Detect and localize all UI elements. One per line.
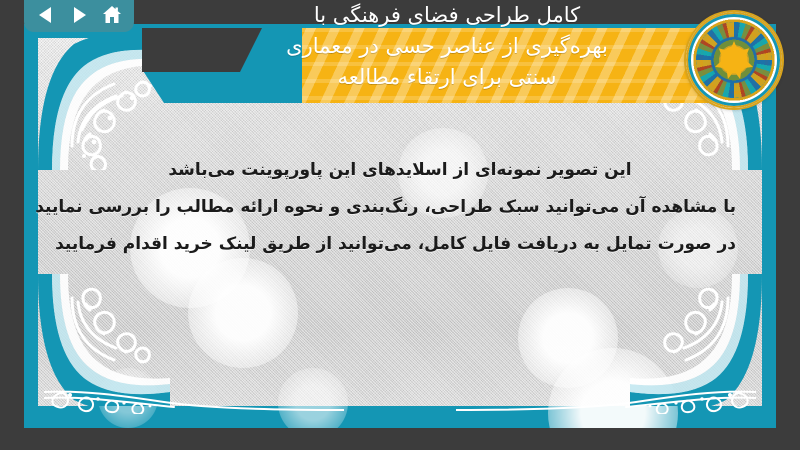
home-button[interactable] (101, 4, 123, 26)
body-line-1: این تصویر نمونه‌ای از اسلایدهای این پاور… (64, 152, 736, 189)
bokeh-circle (518, 288, 618, 388)
persian-medallion-icon (686, 12, 782, 108)
bottom-border-band (24, 394, 776, 428)
bottom-flourish-icon (456, 388, 756, 414)
banner-stripe-pattern (282, 28, 752, 103)
triangle-right-icon (70, 6, 88, 24)
medallion-outer-ring (686, 12, 782, 108)
body-line-3: در صورت تمایل به دریافت فایل کامل، می‌تو… (64, 226, 736, 263)
bottom-flourish-icon (44, 388, 344, 414)
slide-body-text: این تصویر نمونه‌ای از اسلایدهای این پاور… (64, 152, 736, 263)
bokeh-circle (188, 258, 298, 368)
slide-canvas: این تصویر نمونه‌ای از اسلایدهای این پاور… (0, 0, 800, 450)
back-button[interactable] (35, 4, 57, 26)
navigation-bar (24, 0, 134, 32)
title-banner (142, 28, 752, 103)
body-line-2: با مشاهده آن می‌توانید سبک طراحی، رنگ‌بن… (64, 189, 736, 226)
forward-button[interactable] (68, 4, 90, 26)
home-icon (102, 5, 122, 25)
triangle-left-icon (37, 6, 55, 24)
